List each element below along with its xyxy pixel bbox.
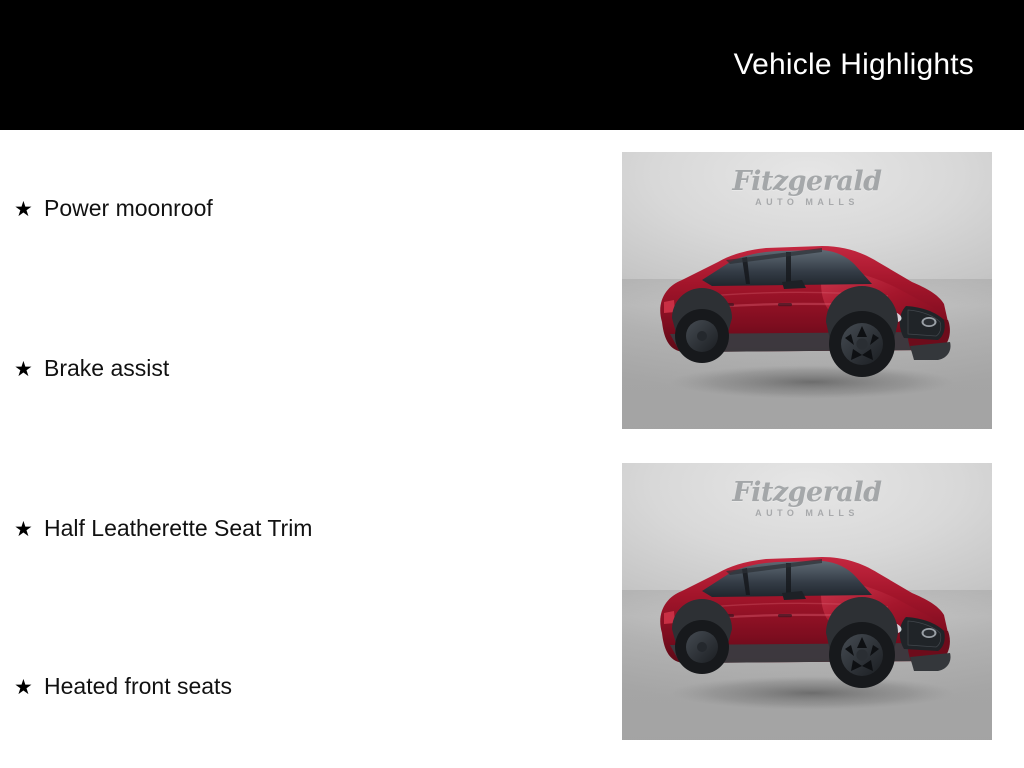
vehicle-illustration bbox=[626, 210, 988, 410]
highlight-label: Heated front seats bbox=[44, 674, 232, 699]
highlight-label: Half Leatherette Seat Trim bbox=[44, 516, 312, 541]
list-item: ★ Heated front seats bbox=[14, 674, 232, 699]
vehicle-illustration bbox=[626, 521, 988, 721]
page-title: Vehicle Highlights bbox=[734, 48, 974, 82]
page-header: Vehicle Highlights bbox=[0, 0, 1024, 130]
list-item: ★ Half Leatherette Seat Trim bbox=[14, 516, 312, 541]
vehicle-photo-2: Fitzgerald AUTO MALLS bbox=[622, 463, 992, 740]
star-icon: ★ bbox=[14, 199, 44, 220]
star-icon: ★ bbox=[14, 677, 44, 698]
highlight-label: Power moonroof bbox=[44, 196, 213, 221]
list-item: ★ Power moonroof bbox=[14, 196, 213, 221]
vehicle-highlights-list: ★ Power moonroof ★ Brake assist ★ Half L… bbox=[0, 130, 600, 768]
star-icon: ★ bbox=[14, 519, 44, 540]
highlight-label: Brake assist bbox=[44, 356, 169, 381]
star-icon: ★ bbox=[14, 359, 44, 380]
vehicle-photo-1: Fitzgerald AUTO MALLS bbox=[622, 152, 992, 429]
list-item: ★ Brake assist bbox=[14, 356, 169, 381]
